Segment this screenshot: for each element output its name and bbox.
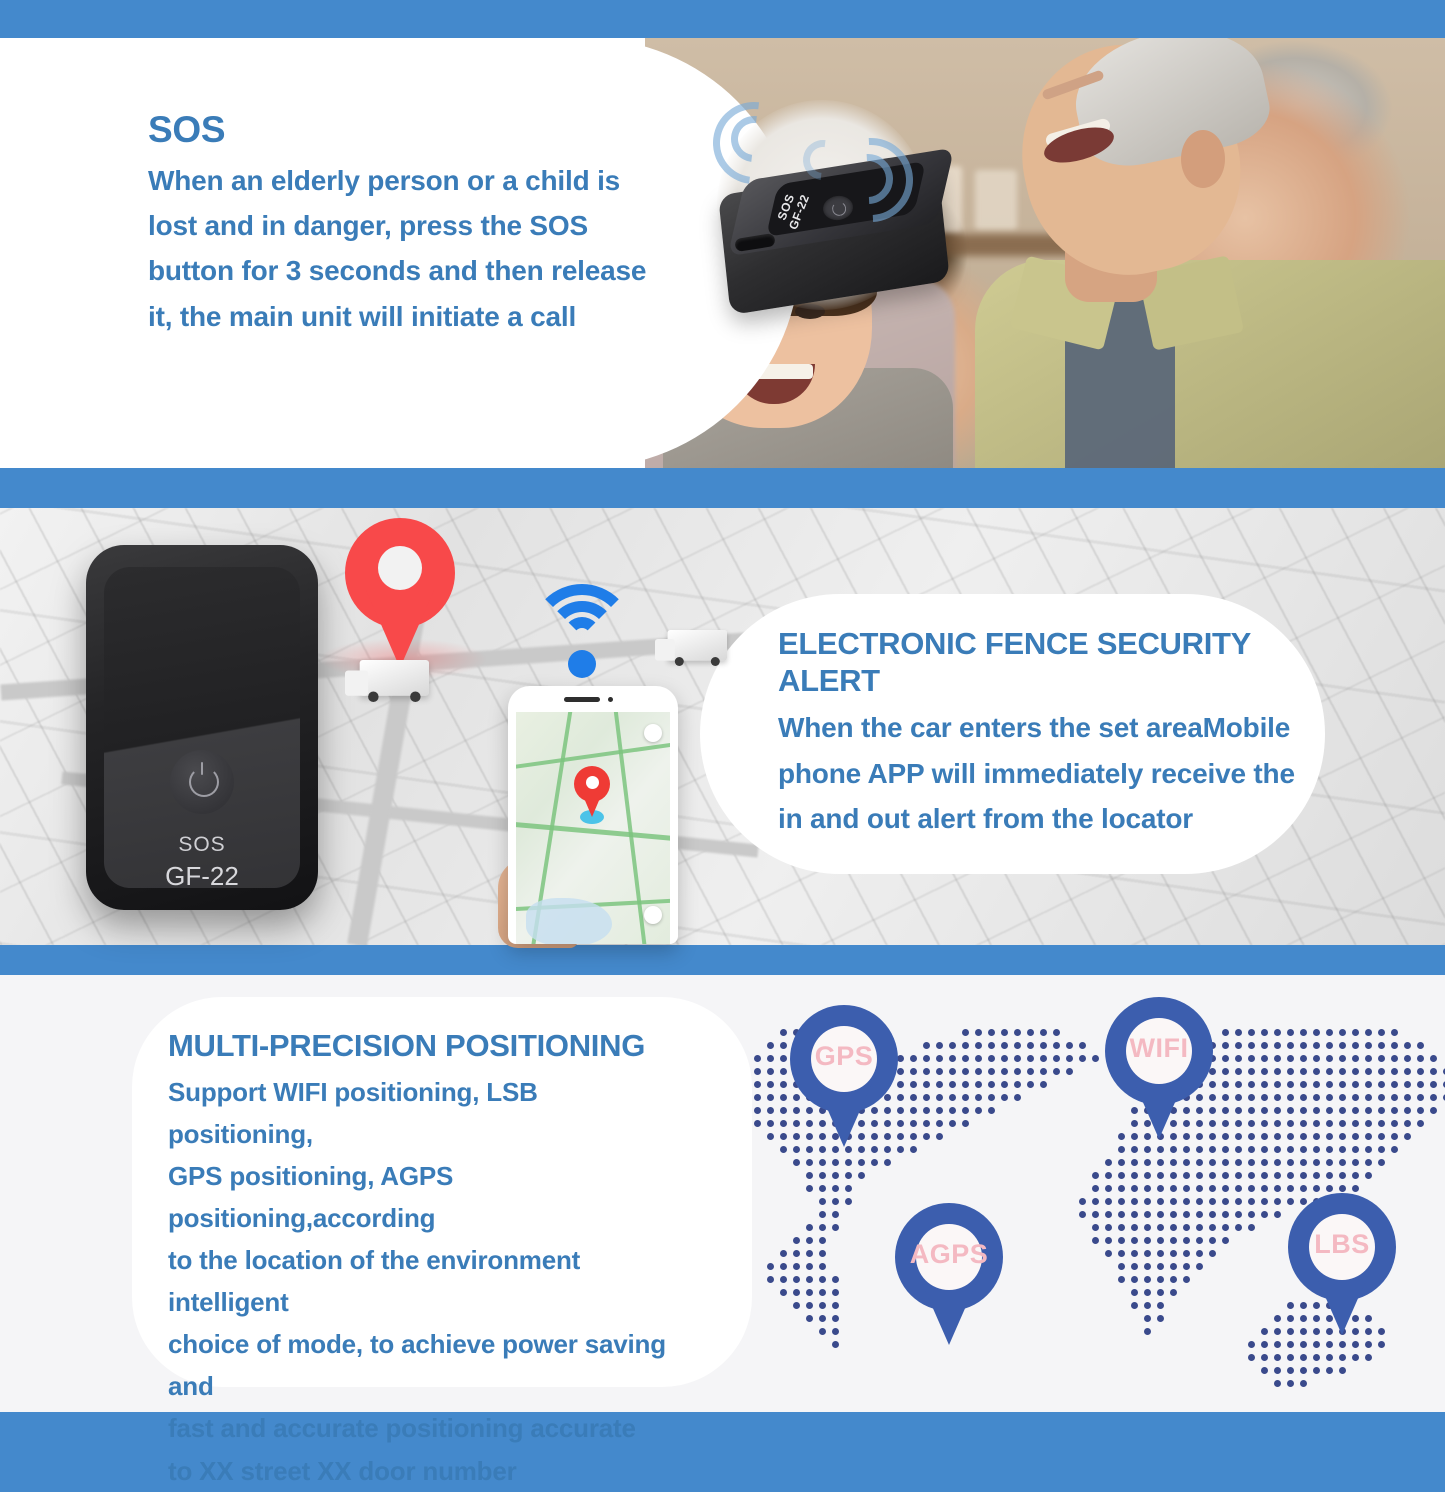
map-dot xyxy=(1378,1042,1385,1049)
map-dot xyxy=(1300,1159,1307,1166)
map-dot xyxy=(1001,1081,1008,1088)
map-dot xyxy=(923,1068,930,1075)
map-dot xyxy=(1209,1250,1216,1257)
map-dot xyxy=(1131,1211,1138,1218)
map-dot xyxy=(1183,1250,1190,1257)
map-dot xyxy=(1287,1185,1294,1192)
map-dot xyxy=(1131,1237,1138,1244)
map-dot xyxy=(780,1263,787,1270)
map-dot xyxy=(1001,1042,1008,1049)
map-dot xyxy=(1287,1172,1294,1179)
map-dot xyxy=(897,1055,904,1062)
map-dot xyxy=(1248,1029,1255,1036)
map-dot xyxy=(1378,1159,1385,1166)
map-dot xyxy=(1313,1094,1320,1101)
smartphone-map-app xyxy=(508,686,678,944)
map-dot xyxy=(1339,1367,1346,1374)
pin-tip xyxy=(816,1083,872,1147)
map-dot xyxy=(923,1081,930,1088)
map-dot xyxy=(806,1172,813,1179)
map-dot xyxy=(988,1055,995,1062)
map-dot xyxy=(858,1172,865,1179)
map-dot xyxy=(1157,1198,1164,1205)
map-dot xyxy=(832,1276,839,1283)
map-pin-gps[interactable]: GPS xyxy=(790,1005,898,1147)
map-dot xyxy=(1209,1224,1216,1231)
map-dot xyxy=(1287,1120,1294,1127)
map-dot xyxy=(1248,1081,1255,1088)
map-dot xyxy=(1391,1055,1398,1062)
map-compass-icon[interactable] xyxy=(644,724,662,742)
map-dot xyxy=(819,1211,826,1218)
positioning-line-2: GPS positioning, AGPS positioning,accord… xyxy=(168,1155,688,1239)
map-dot xyxy=(1300,1172,1307,1179)
map-dot xyxy=(1170,1250,1177,1257)
map-dot xyxy=(1300,1367,1307,1374)
map-dot xyxy=(832,1224,839,1231)
map-dot xyxy=(1118,1198,1125,1205)
map-dot xyxy=(1053,1029,1060,1036)
map-dot xyxy=(819,1159,826,1166)
map-dot xyxy=(1131,1159,1138,1166)
map-dot xyxy=(1170,1237,1177,1244)
map-dot xyxy=(793,1263,800,1270)
map-dot xyxy=(1326,1107,1333,1114)
map-dot xyxy=(793,1276,800,1283)
map-dot xyxy=(1079,1198,1086,1205)
map-dot xyxy=(1261,1211,1268,1218)
map-dot xyxy=(910,1081,917,1088)
map-dot xyxy=(1040,1055,1047,1062)
map-dot xyxy=(1352,1341,1359,1348)
map-dot xyxy=(1391,1042,1398,1049)
map-dot xyxy=(1183,1211,1190,1218)
map-dot xyxy=(949,1107,956,1114)
map-dot xyxy=(819,1276,826,1283)
map-dot xyxy=(858,1146,865,1153)
map-dot xyxy=(1196,1185,1203,1192)
map-dot xyxy=(1144,1302,1151,1309)
map-dot xyxy=(1222,1029,1229,1036)
map-dot xyxy=(1365,1068,1372,1075)
map-dot xyxy=(793,1159,800,1166)
map-dot xyxy=(962,1081,969,1088)
map-dot xyxy=(832,1172,839,1179)
sos-title: SOS xyxy=(148,108,728,152)
positioning-line-1: Support WIFI positioning, LSB positionin… xyxy=(168,1071,688,1155)
map-dot xyxy=(1378,1120,1385,1127)
positioning-text-block: MULTI-PRECISION POSITIONING Support WIFI… xyxy=(168,1028,688,1492)
fence-line-1: When the car enters the set areaMobile xyxy=(778,705,1323,750)
map-dot xyxy=(1274,1055,1281,1062)
map-dot xyxy=(1352,1146,1359,1153)
map-dot xyxy=(1378,1094,1385,1101)
map-dot xyxy=(1391,1146,1398,1153)
map-dot xyxy=(1196,1172,1203,1179)
map-dot xyxy=(1235,1055,1242,1062)
map-dot xyxy=(1027,1029,1034,1036)
map-dot xyxy=(767,1055,774,1062)
map-dot xyxy=(1131,1172,1138,1179)
map-dot xyxy=(858,1159,865,1166)
map-dot xyxy=(806,1159,813,1166)
map-dot xyxy=(1261,1042,1268,1049)
sos-line-2: lost and in danger, press the SOS xyxy=(148,203,728,248)
map-dot xyxy=(806,1224,813,1231)
sos-line-1: When an elderly person or a child is xyxy=(148,158,728,203)
map-dot xyxy=(1235,1211,1242,1218)
map-dot xyxy=(1339,1120,1346,1127)
map-dot xyxy=(1352,1094,1359,1101)
map-dot xyxy=(1144,1276,1151,1283)
map-dot xyxy=(1209,1211,1216,1218)
map-dot xyxy=(1352,1133,1359,1140)
map-dot xyxy=(1157,1250,1164,1257)
map-dot xyxy=(1053,1042,1060,1049)
device-sos-label: SOS xyxy=(86,833,318,857)
map-dot xyxy=(780,1120,787,1127)
map-dot xyxy=(1209,1172,1216,1179)
map-dot xyxy=(780,1094,787,1101)
map-dot xyxy=(1222,1107,1229,1114)
map-dot xyxy=(1274,1081,1281,1088)
map-dot xyxy=(962,1107,969,1114)
map-dot xyxy=(1079,1042,1086,1049)
map-dot xyxy=(780,1107,787,1114)
map-dot xyxy=(1326,1042,1333,1049)
map-dot xyxy=(1222,1159,1229,1166)
map-dot xyxy=(754,1120,761,1127)
map-dot xyxy=(1313,1354,1320,1361)
power-button-icon xyxy=(170,750,234,814)
map-dot xyxy=(1222,1042,1229,1049)
map-dot xyxy=(1352,1081,1359,1088)
map-dot xyxy=(1118,1146,1125,1153)
map-dot xyxy=(910,1133,917,1140)
map-dot xyxy=(754,1094,761,1101)
map-dot xyxy=(1261,1120,1268,1127)
map-dot xyxy=(793,1237,800,1244)
map-dot xyxy=(819,1172,826,1179)
map-dot xyxy=(1378,1068,1385,1075)
map-dot xyxy=(1092,1224,1099,1231)
map-dot xyxy=(1248,1094,1255,1101)
map-location-pin-icon xyxy=(574,766,610,816)
map-dot xyxy=(806,1263,813,1270)
map-dot xyxy=(1274,1068,1281,1075)
map-dot xyxy=(1365,1107,1372,1114)
map-dot xyxy=(1300,1094,1307,1101)
map-dot xyxy=(1170,1263,1177,1270)
map-dot xyxy=(832,1328,839,1335)
map-dot xyxy=(1404,1107,1411,1114)
world-map-illustration: GPS WIFI AGPS LBS xyxy=(690,975,1445,1412)
map-dot xyxy=(1131,1263,1138,1270)
gps-tracker-device: SOS GF-22 xyxy=(86,545,318,910)
map-dot xyxy=(1326,1341,1333,1348)
map-dot xyxy=(1339,1107,1346,1114)
map-dot xyxy=(1274,1341,1281,1348)
map-dot xyxy=(1209,1146,1216,1153)
map-dot xyxy=(923,1055,930,1062)
map-dot xyxy=(1248,1107,1255,1114)
map-dot xyxy=(767,1068,774,1075)
map-locate-icon[interactable] xyxy=(644,906,662,924)
pin-hole xyxy=(378,546,422,590)
map-dot xyxy=(1287,1380,1294,1387)
map-dot xyxy=(793,1146,800,1153)
map-dot xyxy=(936,1055,943,1062)
map-dot xyxy=(1131,1185,1138,1192)
map-dot xyxy=(1417,1042,1424,1049)
elderly-man-ear xyxy=(1181,130,1225,188)
map-dot xyxy=(1014,1042,1021,1049)
map-dot xyxy=(1248,1172,1255,1179)
map-dot xyxy=(1274,1211,1281,1218)
map-dot xyxy=(1391,1029,1398,1036)
pin-tip xyxy=(921,1281,977,1345)
map-dot xyxy=(1352,1354,1359,1361)
map-dot xyxy=(1170,1172,1177,1179)
map-dot xyxy=(1144,1159,1151,1166)
map-dot xyxy=(1339,1172,1346,1179)
map-dot xyxy=(1196,1146,1203,1153)
map-dot xyxy=(871,1146,878,1153)
map-dot xyxy=(1144,1328,1151,1335)
map-dot xyxy=(1235,1042,1242,1049)
map-dot xyxy=(819,1250,826,1257)
map-dot xyxy=(1157,1263,1164,1270)
map-dot xyxy=(962,1094,969,1101)
map-dot xyxy=(1326,1068,1333,1075)
map-dot xyxy=(1209,1185,1216,1192)
map-dot xyxy=(1105,1250,1112,1257)
map-dot xyxy=(1131,1302,1138,1309)
truck-wheel xyxy=(410,692,421,703)
map-dot xyxy=(949,1055,956,1062)
map-dot xyxy=(1222,1185,1229,1192)
map-dot xyxy=(832,1185,839,1192)
map-dot xyxy=(1365,1146,1372,1153)
map-dot xyxy=(1079,1211,1086,1218)
map-dot xyxy=(1287,1068,1294,1075)
map-dot xyxy=(1196,1211,1203,1218)
map-dot xyxy=(1144,1172,1151,1179)
map-dot xyxy=(949,1042,956,1049)
map-pin-wifi[interactable]: WIFI xyxy=(1105,997,1213,1139)
map-dot xyxy=(1118,1185,1125,1192)
map-dot xyxy=(1222,1211,1229,1218)
map-dot xyxy=(1339,1159,1346,1166)
map-dot xyxy=(1066,1055,1073,1062)
map-dot xyxy=(1222,1237,1229,1244)
map-dot xyxy=(1183,1185,1190,1192)
map-dot xyxy=(1170,1224,1177,1231)
map-dot xyxy=(910,1094,917,1101)
map-dot xyxy=(754,1068,761,1075)
map-dot xyxy=(897,1107,904,1114)
map-dot xyxy=(1144,1250,1151,1257)
map-dot xyxy=(1430,1055,1437,1062)
map-dot xyxy=(962,1055,969,1062)
map-dot xyxy=(1053,1055,1060,1062)
map-dot xyxy=(1144,1211,1151,1218)
map-dot xyxy=(1417,1094,1424,1101)
sos-line-4: it, the main unit will initiate a call xyxy=(148,294,728,339)
map-dot xyxy=(1144,1289,1151,1296)
map-dot xyxy=(1404,1042,1411,1049)
map-dot xyxy=(819,1146,826,1153)
map-dot xyxy=(819,1315,826,1322)
map-dot xyxy=(1300,1029,1307,1036)
map-dot xyxy=(1430,1107,1437,1114)
map-dot xyxy=(793,1250,800,1257)
map-dot xyxy=(1235,1029,1242,1036)
map-dot xyxy=(975,1094,982,1101)
map-dot xyxy=(1274,1380,1281,1387)
map-dot xyxy=(1144,1198,1151,1205)
map-dot xyxy=(1261,1354,1268,1361)
map-dot xyxy=(1157,1224,1164,1231)
map-dot xyxy=(1248,1120,1255,1127)
map-dot xyxy=(1235,1198,1242,1205)
map-dot xyxy=(910,1146,917,1153)
map-dot xyxy=(1404,1081,1411,1088)
map-dot xyxy=(1118,1276,1125,1283)
map-dot xyxy=(962,1042,969,1049)
map-dot xyxy=(975,1081,982,1088)
map-dot xyxy=(767,1081,774,1088)
map-dot xyxy=(1144,1237,1151,1244)
map-dot xyxy=(1144,1224,1151,1231)
map-dot xyxy=(1196,1237,1203,1244)
map-dot xyxy=(1183,1276,1190,1283)
map-dot xyxy=(832,1159,839,1166)
map-dot xyxy=(1313,1133,1320,1140)
map-dot xyxy=(1352,1185,1359,1192)
map-dot xyxy=(1170,1146,1177,1153)
map-dot xyxy=(1378,1055,1385,1062)
map-dot xyxy=(1352,1029,1359,1036)
map-dot xyxy=(1040,1068,1047,1075)
map-dot xyxy=(832,1289,839,1296)
map-dot xyxy=(1339,1146,1346,1153)
map-dot xyxy=(1001,1094,1008,1101)
map-dot xyxy=(1079,1055,1086,1062)
map-pin-lbs[interactable]: LBS xyxy=(1288,1193,1396,1335)
map-dot xyxy=(1014,1081,1021,1088)
map-dot xyxy=(1287,1094,1294,1101)
map-dot xyxy=(910,1068,917,1075)
truck-cab xyxy=(655,639,675,661)
map-dot xyxy=(975,1068,982,1075)
map-dot xyxy=(1339,1185,1346,1192)
map-dot xyxy=(1339,1042,1346,1049)
map-dot xyxy=(1261,1029,1268,1036)
map-dot xyxy=(1261,1146,1268,1153)
map-dot xyxy=(1274,1172,1281,1179)
map-dot xyxy=(1300,1042,1307,1049)
fence-title: ELECTRONIC FENCE SECURITY ALERT xyxy=(778,626,1323,699)
map-dot xyxy=(1287,1146,1294,1153)
map-dot xyxy=(1235,1146,1242,1153)
map-dot xyxy=(1326,1029,1333,1036)
map-dot xyxy=(1300,1133,1307,1140)
map-dot xyxy=(1287,1107,1294,1114)
map-dot xyxy=(819,1224,826,1231)
map-dot xyxy=(1131,1276,1138,1283)
map-dot xyxy=(923,1107,930,1114)
map-dot xyxy=(975,1055,982,1062)
map-dot xyxy=(910,1107,917,1114)
map-dot xyxy=(936,1107,943,1114)
map-pin-agps[interactable]: AGPS xyxy=(895,1203,1003,1345)
map-dot xyxy=(1157,1237,1164,1244)
device-model-label: GF-22 xyxy=(86,861,318,892)
map-dot xyxy=(1105,1237,1112,1244)
map-dot xyxy=(1287,1081,1294,1088)
sos-text-block: SOS When an elderly person or a child is… xyxy=(148,108,728,339)
map-dot xyxy=(767,1120,774,1127)
map-dot xyxy=(1300,1068,1307,1075)
map-dot xyxy=(1248,1224,1255,1231)
map-dot xyxy=(949,1068,956,1075)
map-dot xyxy=(975,1042,982,1049)
map-dot xyxy=(1352,1055,1359,1062)
map-dot xyxy=(1092,1211,1099,1218)
map-dot xyxy=(1300,1107,1307,1114)
map-dot xyxy=(910,1055,917,1062)
fence-line-2: phone APP will immediately receive the xyxy=(778,751,1323,796)
map-dot xyxy=(1144,1315,1151,1322)
map-dot xyxy=(1196,1250,1203,1257)
map-dot xyxy=(1326,1133,1333,1140)
pin-label-wifi: WIFI xyxy=(1105,1033,1213,1064)
map-dot xyxy=(1313,1055,1320,1062)
map-dot xyxy=(1235,1172,1242,1179)
map-dot xyxy=(1326,1172,1333,1179)
map-dot xyxy=(1196,1198,1203,1205)
map-dot xyxy=(923,1042,930,1049)
map-dot xyxy=(1352,1107,1359,1114)
map-dot xyxy=(1274,1367,1281,1374)
truck-wheel xyxy=(368,692,379,703)
phone-speaker xyxy=(564,697,600,702)
map-dot xyxy=(1196,1224,1203,1231)
map-dot xyxy=(988,1081,995,1088)
map-dot xyxy=(1170,1185,1177,1192)
map-dot xyxy=(936,1081,943,1088)
map-dot xyxy=(1417,1107,1424,1114)
map-dot xyxy=(780,1068,787,1075)
map-dot xyxy=(845,1198,852,1205)
map-dot xyxy=(1378,1146,1385,1153)
map-dot xyxy=(1287,1055,1294,1062)
map-dot xyxy=(1248,1354,1255,1361)
map-dot xyxy=(1404,1055,1411,1062)
map-dot xyxy=(1235,1133,1242,1140)
map-dot xyxy=(1027,1068,1034,1075)
map-dot xyxy=(1183,1172,1190,1179)
map-dot xyxy=(1092,1198,1099,1205)
map-dot xyxy=(1170,1159,1177,1166)
map-dot xyxy=(1274,1133,1281,1140)
sos-device-illustration: SOS GF-22 xyxy=(705,100,995,335)
map-dot xyxy=(910,1120,917,1127)
map-dot xyxy=(806,1185,813,1192)
map-dot xyxy=(1183,1159,1190,1166)
map-dot xyxy=(1001,1068,1008,1075)
